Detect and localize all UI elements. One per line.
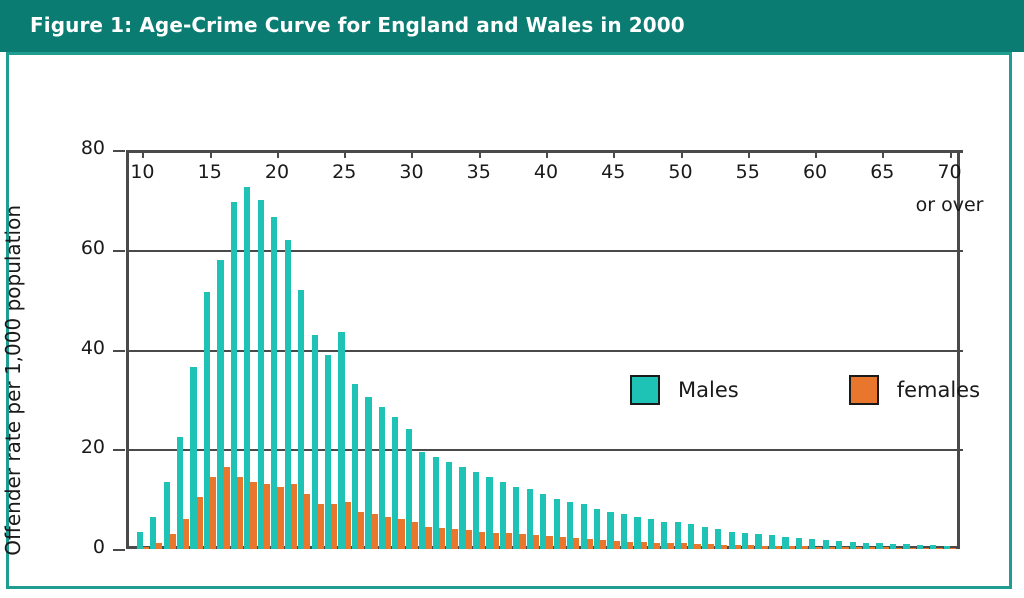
bar-female (573, 538, 579, 549)
bar-female (883, 547, 889, 549)
x-tick-label: 50 (656, 161, 706, 183)
bar-female (789, 546, 795, 549)
bar-female (641, 542, 647, 549)
bar-female (385, 517, 391, 549)
x-tick-mark (613, 150, 615, 158)
x-tick-mark (950, 150, 952, 158)
legend-swatch-males (630, 375, 660, 405)
bar-female (519, 534, 525, 549)
x-tick-label: 30 (386, 161, 436, 183)
bar-female (197, 497, 203, 549)
bar-female (358, 512, 364, 549)
x-tick-label: 55 (723, 161, 773, 183)
bar-female (869, 547, 875, 549)
x-tick-mark (210, 150, 212, 158)
bar-female (856, 547, 862, 549)
y-tick-label: 20 (61, 436, 105, 458)
bar-female (210, 477, 216, 549)
x-tick-sublabel-or-over: or over (895, 194, 1005, 216)
bar-female (708, 544, 714, 549)
bar-female (318, 504, 324, 549)
x-tick-label: 65 (857, 161, 907, 183)
legend-swatch-females (849, 375, 879, 405)
bar-female (775, 546, 781, 549)
chart-legend: Malesfemales (630, 375, 980, 405)
legend-entry: Males (630, 375, 739, 405)
bar-female (842, 547, 848, 549)
x-tick-label: 15 (185, 161, 235, 183)
bar-female (681, 543, 687, 549)
y-tick-mark (113, 549, 125, 551)
bar-female (170, 534, 176, 549)
x-tick-mark (479, 150, 481, 158)
bar-female (533, 535, 539, 549)
bar-female (250, 482, 256, 549)
x-tick-mark (142, 150, 144, 158)
bar-female (762, 546, 768, 549)
x-tick-label: 25 (319, 161, 369, 183)
bar-female (815, 547, 821, 549)
x-tick-mark (411, 150, 413, 158)
bar-female (479, 532, 485, 549)
bar-female (439, 528, 445, 549)
x-tick-label: 20 (252, 161, 302, 183)
bar-female (372, 514, 378, 549)
bar-female (560, 537, 566, 549)
y-tick-label: 80 (61, 137, 105, 159)
bar-female (802, 546, 808, 549)
bar-female (264, 484, 270, 549)
bar-female (721, 545, 727, 549)
bar-female (654, 543, 660, 549)
bar-female (452, 529, 458, 549)
figure-frame: 10152025303540455055606570or over 020406… (6, 52, 1012, 589)
bar-female (694, 544, 700, 549)
x-tick-label: 70 (925, 161, 975, 183)
x-tick-label: 45 (588, 161, 638, 183)
bar-female (950, 548, 956, 549)
bar-female (587, 539, 593, 549)
x-tick-label: 40 (521, 161, 571, 183)
x-tick-mark (546, 150, 548, 158)
page-title: Figure 1: Age-Crime Curve for England an… (30, 13, 685, 37)
bar-female (600, 540, 606, 549)
legend-label: females (897, 378, 980, 402)
bar-female (143, 547, 149, 549)
bar-female (156, 543, 162, 549)
bar-female (291, 484, 297, 549)
y-axis-title: Offender rate per 1,000 population (1, 205, 25, 556)
bar-female (493, 533, 499, 549)
legend-entry: females (849, 375, 980, 405)
bar-female (667, 543, 673, 549)
bar-female (412, 522, 418, 549)
x-tick-mark (277, 150, 279, 158)
bar-female (331, 504, 337, 549)
x-tick-label: 10 (117, 161, 167, 183)
bar-female (224, 467, 230, 549)
bar-female (627, 542, 633, 549)
y-tick-label: 0 (61, 536, 105, 558)
bar-female (936, 548, 942, 549)
y-tick-label: 60 (61, 237, 105, 259)
x-tick-mark (748, 150, 750, 158)
bar-female (304, 494, 310, 549)
bar-female (506, 533, 512, 549)
bar-female (398, 519, 404, 549)
bar-female (425, 527, 431, 549)
bar-female (829, 547, 835, 549)
x-tick-mark (815, 150, 817, 158)
bar-female (345, 502, 351, 549)
y-tick-mark (113, 350, 125, 352)
bar-female (735, 545, 741, 549)
y-tick-mark (113, 150, 125, 152)
x-tick-mark (344, 150, 346, 158)
x-tick-mark (681, 150, 683, 158)
x-tick-mark (882, 150, 884, 158)
bar-female (277, 487, 283, 549)
bar-female (466, 530, 472, 549)
figure-header-band: Figure 1: Age-Crime Curve for England an… (0, 0, 1024, 52)
chart-plot-area: 10152025303540455055606570or over (126, 150, 960, 549)
bar-female (183, 519, 189, 549)
bar-female (237, 477, 243, 549)
bar-series-layer (129, 150, 963, 549)
bar-female (546, 536, 552, 549)
y-tick-label: 40 (61, 337, 105, 359)
y-tick-mark (113, 449, 125, 451)
y-tick-mark (113, 250, 125, 252)
x-tick-label: 35 (454, 161, 504, 183)
bar-female (748, 545, 754, 549)
bar-female (896, 548, 902, 549)
legend-label: Males (678, 378, 739, 402)
bar-female (614, 541, 620, 549)
x-tick-label: 60 (790, 161, 840, 183)
bar-female (923, 548, 929, 549)
figure-page: Figure 1: Age-Crime Curve for England an… (0, 0, 1024, 598)
bar-female (910, 548, 916, 549)
